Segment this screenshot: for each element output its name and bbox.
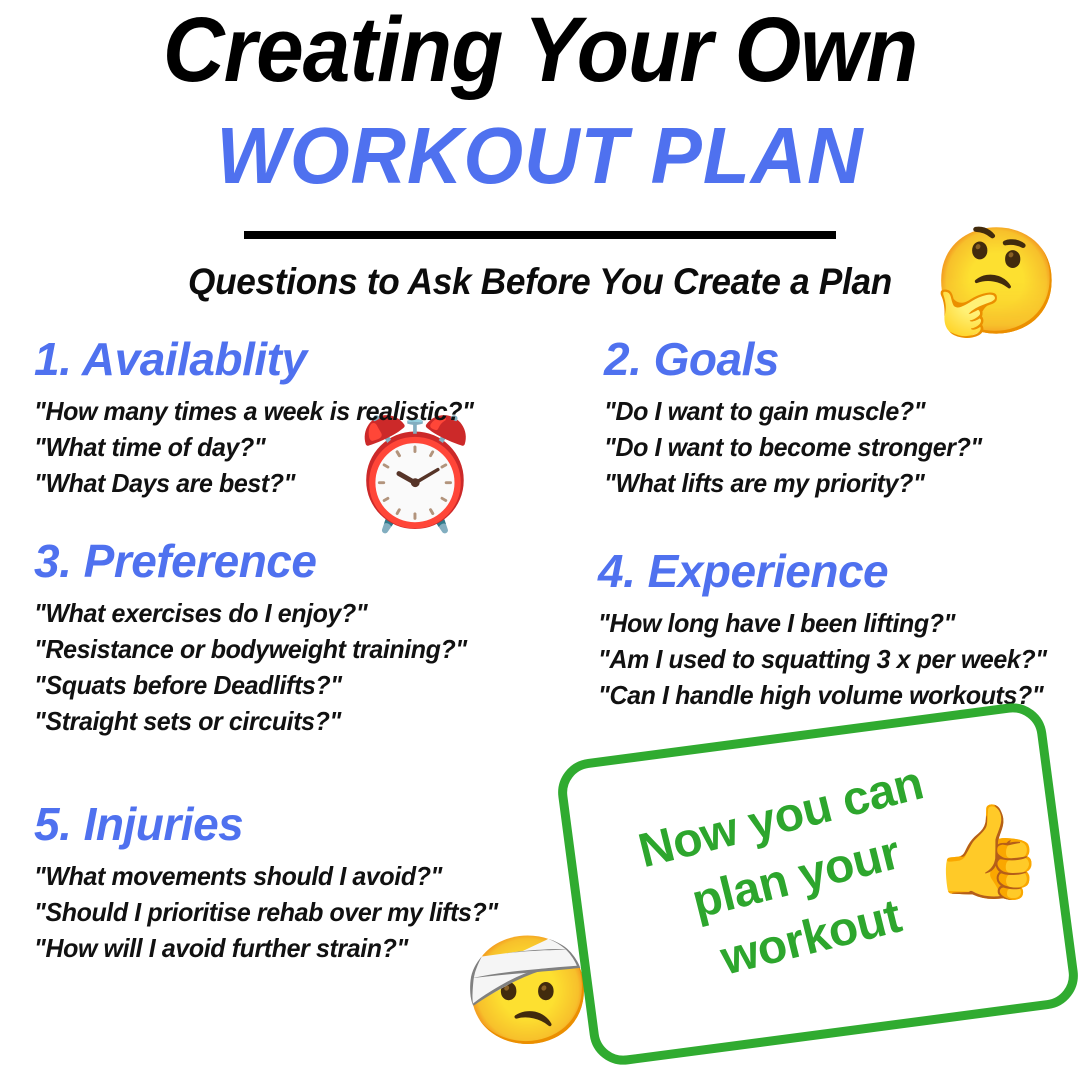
list-item: "Resistance or bodyweight training?"	[34, 631, 467, 667]
list-item: "How will I avoid further strain?"	[34, 930, 498, 966]
list-item: "Do I want to gain muscle?"	[604, 393, 982, 429]
thinking-face-icon: 🤔	[932, 230, 1062, 334]
list-item: "Do I want to become stronger?"	[604, 429, 982, 465]
section-goals: 2. Goals "Do I want to gain muscle?" "Do…	[604, 333, 998, 501]
question-list: "How long have I been lifting?" "Am I us…	[598, 605, 1065, 713]
section-preference: 3. Preference "What exercises do I enjoy…	[34, 535, 485, 739]
list-item: "What lifts are my priority?"	[604, 465, 982, 501]
section-heading: 3. Preference	[34, 535, 485, 587]
list-item: "Straight sets or circuits?"	[34, 703, 467, 739]
question-list: "What exercises do I enjoy?" "Resistance…	[34, 595, 485, 739]
question-list: "Do I want to gain muscle?" "Do I want t…	[604, 393, 998, 501]
section-heading: 2. Goals	[604, 333, 998, 385]
list-item: "What Days are best?"	[34, 465, 474, 501]
list-item: "Squats before Deadlifts?"	[34, 667, 467, 703]
page-title-line2: WORKOUT PLAN	[22, 112, 1059, 200]
list-item: "What exercises do I enjoy?"	[34, 595, 467, 631]
list-item: "What movements should I avoid?"	[34, 858, 498, 894]
section-heading: 5. Injuries	[34, 798, 517, 850]
header-divider	[244, 231, 836, 239]
callout-box-border	[554, 699, 1080, 1069]
question-list: "How many times a week is realistic?" "W…	[34, 393, 492, 501]
list-item: "What time of day?"	[34, 429, 474, 465]
page-subtitle: Questions to Ask Before You Create a Pla…	[27, 260, 1053, 304]
section-heading: 1. Availablity	[34, 333, 492, 385]
list-item: "Am I used to squatting 3 x per week?"	[598, 641, 1047, 677]
list-item: "How long have I been lifting?"	[598, 605, 1047, 641]
list-item: "How many times a week is realistic?"	[34, 393, 474, 429]
section-experience: 4. Experience "How long have I been lift…	[598, 545, 1065, 713]
page-title-line1: Creating Your Own	[38, 2, 1042, 98]
list-item: "Should I prioritise rehab over my lifts…	[34, 894, 498, 930]
section-heading: 4. Experience	[598, 545, 1065, 597]
section-injuries: 5. Injuries "What movements should I avo…	[34, 798, 517, 966]
question-list: "What movements should I avoid?" "Should…	[34, 858, 517, 966]
section-availability: 1. Availablity "How many times a week is…	[34, 333, 492, 501]
infographic-canvas: Creating Your Own WORKOUT PLAN Questions…	[0, 0, 1080, 1080]
